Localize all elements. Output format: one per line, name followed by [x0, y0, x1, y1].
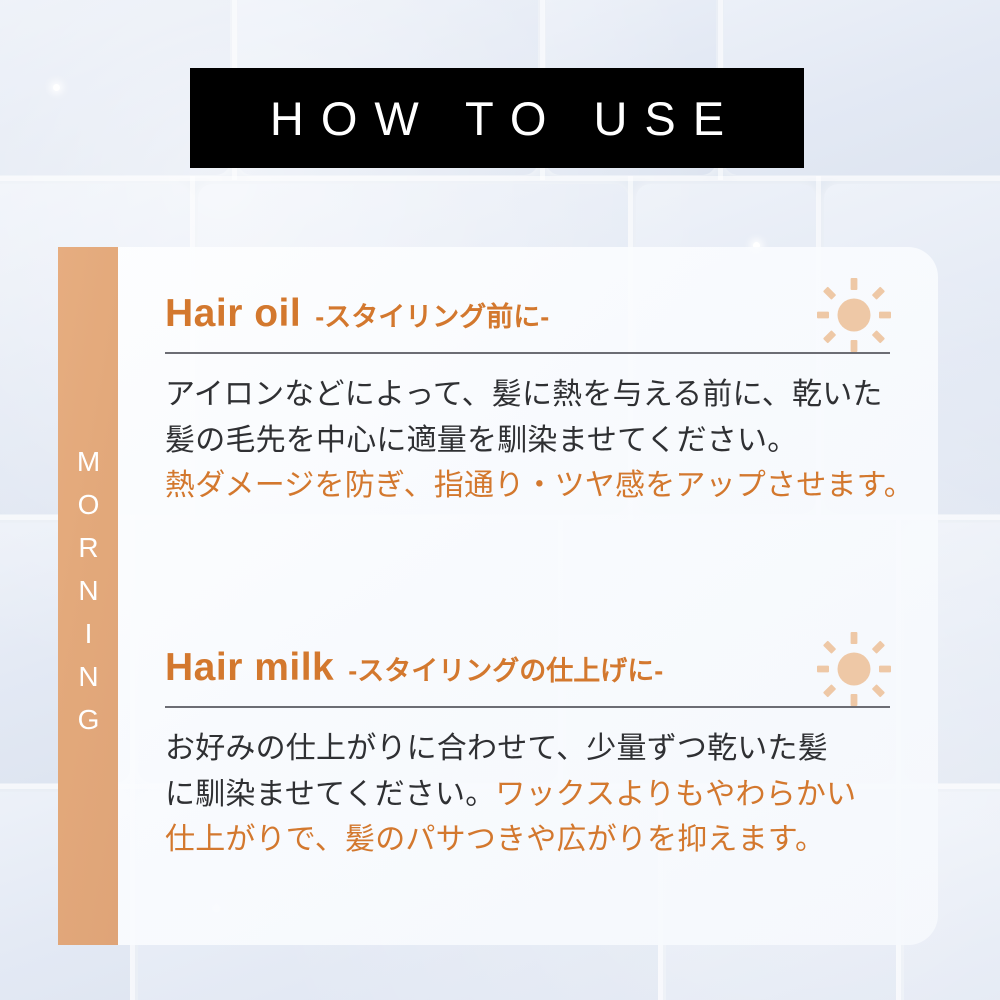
section-body-text: お好みの仕上がりに合わせて、少量ずつ乾いた髪 に馴染ませてください。ワックスより…	[165, 726, 890, 863]
section-divider	[165, 706, 890, 708]
product-name: Hair oil	[165, 292, 301, 336]
header-banner: HOW TO USE	[190, 68, 804, 168]
body-line-plain: に馴染ませてください。	[165, 778, 495, 811]
body-line: に馴染ませてください。ワックスよりもやわらかい	[165, 772, 890, 818]
body-line-highlight: ワックスよりもやわらかい	[495, 778, 856, 811]
body-line: アイロンなどによって、髪に熱を与える前に、乾いた	[165, 372, 890, 418]
sun-icon	[817, 632, 891, 706]
section-body-text: アイロンなどによって、髪に熱を与える前に、乾いた 髪の毛先を中心に適量を馴染ませ…	[165, 372, 890, 509]
body-line: お好みの仕上がりに合わせて、少量ずつ乾いた髪	[165, 726, 890, 772]
section-heading: Hair milk -スタイリングの仕上げに-	[165, 646, 890, 704]
morning-label-text: MORNING	[74, 446, 102, 747]
page-title: HOW TO USE	[253, 91, 741, 146]
section-heading: Hair oil -スタイリング前に-	[165, 292, 890, 350]
product-subtitle: -スタイリング前に-	[315, 295, 549, 334]
body-line-highlight: 仕上がりで、髪のパサつきや広がりを抑えます。	[165, 817, 890, 863]
sun-icon	[817, 278, 891, 352]
body-line: 髪の毛先を中心に適量を馴染ませてください。	[165, 418, 890, 464]
body-line-highlight: 熱ダメージを防ぎ、指通り・ツヤ感をアップさせます。	[165, 463, 890, 509]
section-divider	[165, 352, 890, 354]
section-hair-milk: Hair milk -スタイリングの仕上げに- お好みの仕上がりに合わせて、少量…	[165, 646, 890, 863]
product-subtitle: -スタイリングの仕上げに-	[348, 649, 663, 688]
morning-label-bar: MORNING	[58, 247, 118, 945]
product-name: Hair milk	[165, 646, 334, 690]
section-hair-oil: Hair oil -スタイリング前に- アイロンなどによって、髪に熱を与える前に…	[165, 292, 890, 509]
